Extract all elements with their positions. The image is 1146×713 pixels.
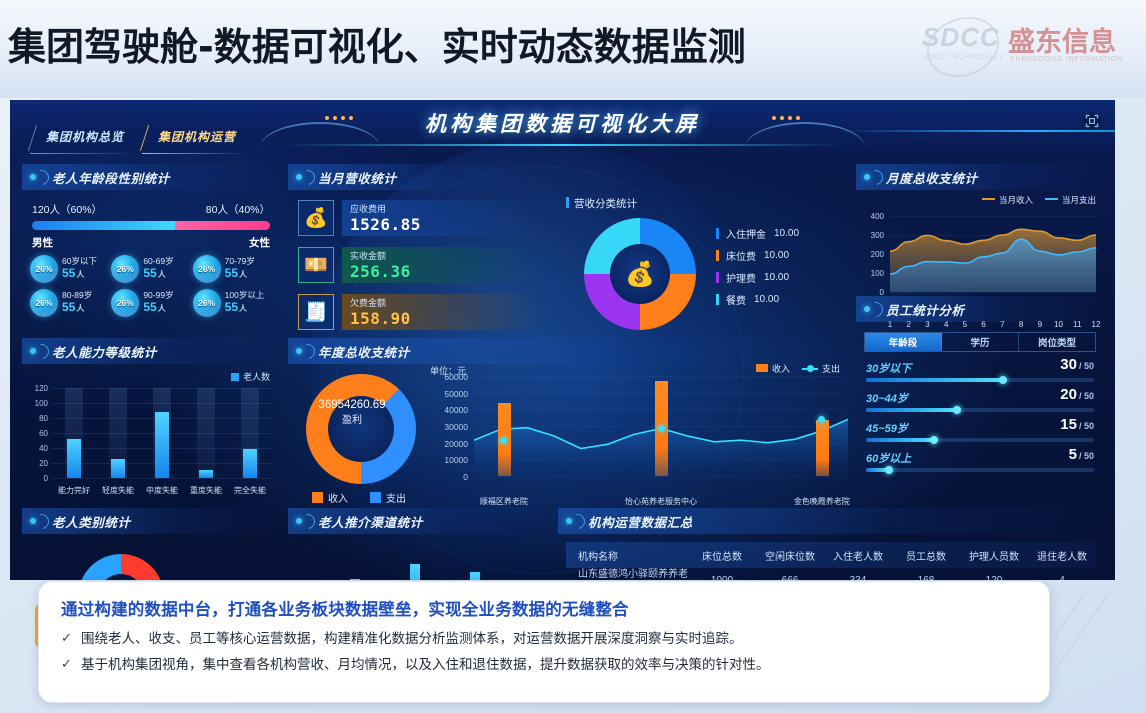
- callout-bullet: ✓基于机构集团视角，集中查看各机构营收、月均情况，以及入住和退住数据，提升数据获…: [61, 656, 1027, 674]
- age-group-value: 55人: [225, 301, 265, 315]
- bar: [67, 439, 81, 478]
- monthly-io-plot: [890, 216, 1096, 292]
- bar: [199, 470, 213, 478]
- axis-tick-label: 50000: [428, 389, 468, 399]
- panel-header: 当月营收统计: [288, 164, 550, 190]
- axis-tick-label: 0: [428, 472, 468, 482]
- grid-line: [474, 459, 844, 460]
- panel-header: 机构运营数据汇总: [558, 508, 1104, 534]
- cash-box-icon: 💴: [298, 247, 334, 283]
- axis-tick-label: 40000: [428, 405, 468, 415]
- female-count-text: 80人（40%）: [206, 202, 270, 217]
- age-group-value: 55人: [143, 267, 173, 281]
- staff-tab-group: 年龄段学历岗位类型: [864, 332, 1096, 352]
- table-cell: 666: [756, 575, 824, 581]
- panel-month-revenue: 当月营收统计 💰应收费用1526.85💴实收金额256.36🧾欠费金额158.9…: [288, 164, 550, 331]
- bar-slot: [148, 388, 176, 478]
- staff-row-value: 30/ 50: [1060, 356, 1094, 373]
- callout-bullet-text: 基于机构集团视角，集中查看各机构营收、月均情况，以及入住和退住数据，提升数据获取…: [81, 656, 770, 674]
- table-column-header: 护理人员数: [960, 548, 1028, 563]
- table-column-header: 员工总数: [892, 548, 960, 563]
- fullscreen-icon[interactable]: [1083, 112, 1101, 130]
- age-group-item: 26%100岁以上55人: [193, 289, 272, 317]
- company-logo: SDCC SDCC TECHNOLOGY 盛东信息 SHENGDONG INFO…: [922, 18, 1142, 80]
- staff-tab-0[interactable]: 年龄段: [865, 333, 942, 351]
- bar: [816, 420, 829, 476]
- age-group-grid: 26%60岁以下55人26%60-69岁55人26%70-79岁55人26%80…: [30, 255, 272, 317]
- bar: [111, 459, 125, 478]
- panel-bullet-icon: [294, 513, 310, 529]
- legend-swatch: [756, 364, 768, 372]
- staff-stat-row: 45~59岁15/ 50: [866, 419, 1094, 442]
- revenue-card-value: 158.90: [350, 309, 532, 328]
- staff-row-list: 30岁以下30/ 5030~44岁20/ 5045~59岁15/ 5060岁以上…: [856, 359, 1104, 472]
- table-cell: 168: [892, 575, 960, 581]
- axis-tick-label: 中度失能: [142, 485, 182, 496]
- staff-progress-knob[interactable]: [930, 436, 938, 444]
- ability-chart-legend: 老人数: [231, 370, 270, 383]
- bar-slot: [104, 388, 132, 478]
- panel-title-elder-category: 老人类别统计: [52, 512, 131, 531]
- logo-mark-text: SDCC: [922, 22, 1000, 53]
- table-column-header: 退住老人数: [1028, 548, 1096, 563]
- axis-tick-label: 10000: [428, 455, 468, 465]
- logo-mark-subtext: SDCC TECHNOLOGY: [924, 54, 1004, 61]
- table-column-header: 入住老人数: [824, 548, 892, 563]
- staff-row-label: 30~44岁: [866, 393, 908, 405]
- revenue-card-value: 1526.85: [350, 215, 532, 234]
- legend-label: 床位费: [726, 248, 756, 263]
- legend-item: 支出: [370, 490, 406, 505]
- callout-bullet-text: 围绕老人、收支、员工等核心运营数据，构建精准化数据分析监测体系，对运营数据开展深…: [81, 630, 743, 648]
- grid-line: [474, 409, 844, 410]
- grid-line: [474, 376, 844, 377]
- legend-swatch: [312, 492, 323, 503]
- legend-swatch: [231, 373, 239, 381]
- tab-group-overview[interactable]: 集团机构总览: [40, 128, 124, 150]
- panel-header: 老人年龄段性别统计: [22, 164, 280, 190]
- staff-row-label: 60岁以上: [866, 453, 911, 465]
- axis-tick-label: 200: [860, 250, 884, 259]
- bar-slot: [236, 388, 264, 478]
- staff-stat-row: 30~44岁20/ 50: [866, 389, 1094, 412]
- panel-header: 月度总收支统计: [856, 164, 1104, 190]
- panel-ability-levels: 老人能力等级统计 老人数 020406080100120能力完好轻度失能中度失能…: [22, 338, 280, 496]
- age-group-value: 55人: [62, 267, 97, 281]
- panel-title-age-gender: 老人年龄段性别统计: [52, 168, 170, 187]
- panel-title-referral: 老人推介渠道统计: [318, 512, 423, 531]
- summary-callout: 通过构建的数据中台，打通各业务板块数据壁垒，实现全业务数据的无缝整合 ✓围绕老人…: [38, 581, 1050, 703]
- logo-chinese-subtext: SHENGDONG INFORMATION: [1010, 56, 1123, 63]
- grid-line: [52, 478, 272, 479]
- panel-institution-table: 机构运营数据汇总 机构名称床位总数空闲床位数入住老人数员工总数护理人员数退住老人…: [558, 508, 1104, 534]
- legend-item: 护理费10.00: [716, 270, 799, 285]
- staff-row-value: 15/ 50: [1060, 416, 1094, 433]
- bar: [350, 579, 360, 580]
- legend-value: 10.00: [774, 228, 799, 239]
- staff-progress-fill: [866, 378, 1003, 382]
- axis-tick-label: 顺福区养老院: [480, 496, 528, 507]
- panel-monthly-io: 月度总收支统计 当月收入 当月支出 4003002001000123456789…: [856, 164, 1104, 190]
- legend-swatch: [716, 228, 719, 239]
- revenue-card-label: 欠费金额: [350, 296, 532, 309]
- dashboard-screenshot: 机构集团数据可视化大屏 集团机构总览 集团机构运营 老人年龄段性别统计 120人…: [10, 100, 1115, 580]
- annual-donut-legend: 收入支出: [312, 490, 406, 505]
- panel-bullet-icon: [294, 169, 310, 185]
- revenue-card: 💴实收金额256.36: [298, 246, 540, 284]
- staff-row-label: 45~59岁: [866, 423, 908, 435]
- donut-hole: [98, 574, 144, 580]
- check-icon: ✓: [61, 630, 81, 647]
- legend-label: 支出: [822, 364, 840, 374]
- staff-progress-knob[interactable]: [885, 466, 893, 474]
- axis-tick-label: 轻度失能: [98, 485, 138, 496]
- panel-header: 老人能力等级统计: [22, 338, 280, 364]
- legend-label: 餐费: [726, 292, 746, 307]
- panel-title-month-revenue: 当月营收统计: [318, 168, 397, 187]
- staff-progress-track[interactable]: [866, 408, 1094, 412]
- bar: [155, 412, 169, 478]
- axis-tick-label: 怡心苑养老服务中心: [625, 496, 697, 507]
- axis-tick-label: 金色晚霞养老院: [794, 496, 850, 507]
- age-percent-ball: 26%: [193, 255, 221, 283]
- money-bag-icon: 💰: [298, 200, 334, 236]
- revenue-card: 🧾欠费金额158.90: [298, 293, 540, 331]
- table-column-header: 床位总数: [688, 548, 756, 563]
- staff-tab-1[interactable]: 学历: [942, 333, 1019, 351]
- table-column-header: 空闲床位数: [756, 548, 824, 563]
- revenue-card-list: 💰应收费用1526.85💴实收金额256.36🧾欠费金额158.90: [288, 199, 550, 331]
- legend-label: 入住押金: [726, 226, 766, 241]
- ability-bar-chart: 020406080100120能力完好轻度失能中度失能重度失能完全失能: [28, 388, 274, 496]
- age-group-value: 55人: [62, 301, 92, 315]
- axis-tick-label: 重度失能: [186, 485, 226, 496]
- annual-profit-value: 36954260.69: [276, 398, 428, 414]
- panel-title-staff: 员工统计分析: [886, 300, 965, 319]
- monthly-io-legend: 当月收入 当月支出: [982, 194, 1096, 206]
- bar-slot: [60, 388, 88, 478]
- gender-bar-female: [175, 221, 270, 230]
- panel-header: 年度总收支统计: [288, 338, 848, 364]
- age-group-value: 55人: [225, 267, 255, 281]
- legend-item: 入住押金10.00: [716, 226, 799, 241]
- legend-swatch: [370, 492, 381, 503]
- elder-category-donut-chart: [78, 554, 164, 580]
- annual-institution-chart: 单位：元 收入支出 顺福区养老院怡心苑养老服务中心金色晚霞养老院 6000050…: [428, 366, 844, 498]
- panel-bullet-icon: [862, 301, 878, 317]
- male-count-text: 120人（60%）: [32, 202, 102, 217]
- legend-item: 床位费10.00: [716, 248, 799, 263]
- staff-row-value: 5/ 50: [1069, 446, 1094, 463]
- axis-tick-label: 40: [28, 444, 48, 453]
- axis-tick-label: 100: [860, 269, 884, 278]
- legend-item: 收入: [312, 490, 348, 505]
- ability-plot-area: [52, 388, 272, 478]
- female-label: 女性: [249, 235, 270, 250]
- legend-value: 10.00: [754, 294, 779, 305]
- age-group-item: 26%70-79岁55人: [193, 255, 272, 283]
- panel-header: 老人推介渠道统计: [288, 508, 550, 534]
- legend-value: 10.00: [764, 272, 789, 283]
- legend-month-expense: 当月支出: [1045, 194, 1096, 206]
- arrears-icon: 🧾: [298, 294, 334, 330]
- annual-profit-label: 盈利: [276, 414, 428, 428]
- axis-tick-label: 能力完好: [54, 485, 94, 496]
- panel-header: 老人类别统计: [22, 508, 280, 534]
- axis-tick-label: 60000: [428, 372, 468, 382]
- axis-tick-label: 80: [28, 414, 48, 423]
- revenue-card-label: 实收金额: [350, 249, 532, 262]
- panel-title-institution-table: 机构运营数据汇总: [588, 512, 693, 531]
- bar-background: [197, 388, 215, 478]
- staff-progress-fill: [866, 408, 957, 412]
- table-cell: 山东盛德鸿小驿颐养养老院: [566, 565, 688, 580]
- legend-swatch: [716, 294, 719, 305]
- staff-progress-knob[interactable]: [953, 406, 961, 414]
- corner-decoration: [1050, 593, 1146, 713]
- age-percent-ball: 26%: [30, 289, 58, 317]
- table-body: 山东盛德鸿小驿颐养养老院10006663341681204: [566, 568, 1096, 580]
- axis-tick-label: 100: [28, 399, 48, 408]
- axis-tick-label: 30000: [428, 422, 468, 432]
- callout-accent-bar: [35, 604, 47, 648]
- revenue-card: 💰应收费用1526.85: [298, 199, 540, 237]
- page-header: 集团驾驶舱-数据可视化、实时动态数据监测 SDCC SDCC TECHNOLOG…: [0, 0, 1146, 98]
- legend-label-elder-count: 老人数: [243, 370, 270, 383]
- axis-tick-label: 20: [28, 459, 48, 468]
- axis-tick-label: 60: [28, 429, 48, 438]
- table-cell: 1000: [688, 575, 756, 581]
- institution-data-table: 机构名称床位总数空闲床位数入住老人数员工总数护理人员数退住老人数 山东盛德鸿小驿…: [566, 542, 1096, 580]
- table-column-header: 机构名称: [566, 548, 688, 563]
- annual-center-text: 36954260.69 盈利: [276, 398, 428, 427]
- legend-swatch: [802, 368, 818, 370]
- panel-revenue-category: 营收分类统计 💰 入住押金10.00床位费10.00护理费10.00餐费10.0…: [566, 196, 856, 346]
- table-cell: 334: [824, 575, 892, 581]
- gender-bar-male: [32, 221, 175, 230]
- panel-title-ability: 老人能力等级统计: [52, 342, 157, 361]
- gender-ratio-bar: [32, 221, 270, 230]
- table-cell: 4: [1028, 575, 1096, 581]
- gender-counts: 120人（60%） 80人（40%）: [32, 202, 270, 218]
- panel-bullet-icon: [294, 343, 310, 359]
- grid-line: [474, 426, 844, 427]
- age-percent-ball: 26%: [111, 255, 139, 283]
- check-icon: ✓: [61, 656, 81, 673]
- revenue-card-value: 256.36: [350, 262, 532, 281]
- panel-staff-analysis: 员工统计分析 年龄段学历岗位类型 30岁以下30/ 5030~44岁20/ 50…: [856, 296, 1104, 472]
- staff-stat-row: 60岁以上5/ 50: [866, 449, 1094, 472]
- panel-age-gender: 老人年龄段性别统计 120人（60%） 80人（40%） 男性 女性 26%60…: [22, 164, 280, 317]
- callout-bullet: ✓围绕老人、收支、员工等核心运营数据，构建精准化数据分析监测体系，对运营数据开展…: [61, 630, 1027, 648]
- panel-elder-category: 老人类别统计: [22, 508, 280, 534]
- staff-progress-track[interactable]: [866, 438, 1094, 442]
- legend-label: 支出: [386, 494, 406, 505]
- legend-item: 餐费10.00: [716, 292, 799, 307]
- axis-tick-label: 20000: [428, 439, 468, 449]
- gender-labels: 男性 女性: [32, 235, 270, 249]
- age-percent-ball: 26%: [111, 289, 139, 317]
- bar-slot: [192, 388, 220, 478]
- legend-swatch: [716, 272, 719, 283]
- panel-bullet-icon: [28, 513, 44, 529]
- bar: [243, 449, 257, 478]
- revenue-category-legend: 入住押金10.00床位费10.00护理费10.00餐费10.00: [716, 226, 799, 314]
- legend-item: 支出: [802, 362, 840, 375]
- panel-bullet-icon: [564, 513, 580, 529]
- yen-bag-icon: 💰: [610, 244, 670, 304]
- page-title: 集团驾驶舱-数据可视化、实时动态数据监测: [8, 16, 746, 71]
- ability-xaxis: 能力完好轻度失能中度失能重度失能完全失能: [52, 485, 272, 496]
- panel-title-annual: 年度总收支统计: [318, 342, 410, 361]
- staff-row-label: 30岁以下: [866, 363, 911, 375]
- panel-header: 员工统计分析: [856, 296, 1104, 322]
- staff-progress-track[interactable]: [866, 378, 1094, 382]
- staff-progress-track[interactable]: [866, 468, 1094, 472]
- revenue-category-title: 营收分类统计: [566, 196, 856, 211]
- axis-tick-label: 完全失能: [230, 485, 270, 496]
- legend-item: 收入: [756, 362, 790, 375]
- callout-bullet-list: ✓围绕老人、收支、员工等核心运营数据，构建精准化数据分析监测体系，对运营数据开展…: [61, 630, 1027, 674]
- panel-bullet-icon: [28, 343, 44, 359]
- revenue-card-label: 应收费用: [350, 202, 532, 215]
- grid-line: [474, 476, 844, 477]
- grid-line: [890, 292, 1096, 293]
- table-row: 山东盛德鸿小驿颐养养老院10006663341681204: [566, 568, 1096, 580]
- legend-label: 护理费: [726, 270, 756, 285]
- bar: [470, 572, 480, 580]
- grid-line: [474, 443, 844, 444]
- age-percent-ball: 26%: [30, 255, 58, 283]
- panel-title-monthly-io: 月度总收支统计: [886, 168, 978, 187]
- panel-referral-channel: 老人推介渠道统计: [288, 508, 550, 534]
- annual-chart-legend: 收入支出: [756, 362, 840, 375]
- panel-bullet-icon: [28, 169, 44, 185]
- grid-line: [474, 393, 844, 394]
- legend-swatch: [716, 250, 719, 261]
- annual-donut-chart: [306, 374, 416, 484]
- legend-label: 收入: [328, 494, 348, 505]
- age-percent-ball: 26%: [193, 289, 221, 317]
- axis-tick-label: 300: [860, 231, 884, 240]
- axis-tick-label: 120: [28, 384, 48, 393]
- age-group-item: 26%60岁以下55人: [30, 255, 109, 283]
- staff-progress-knob[interactable]: [999, 376, 1007, 384]
- axis-tick-label: 0: [28, 474, 48, 483]
- axis-tick-label: 400: [860, 212, 884, 221]
- logo-chinese-text: 盛东信息: [1008, 20, 1116, 59]
- legend-label: 收入: [772, 364, 790, 374]
- callout-title: 通过构建的数据中台，打通各业务板块数据壁垒，实现全业务数据的无缝整合: [61, 596, 1027, 620]
- panel-bullet-icon: [862, 169, 878, 185]
- panel-annual-revenue: 年度总收支统计 36954260.69 盈利 收入支出 单位：元 收入支出 顺福…: [288, 338, 848, 364]
- age-group-item: 26%60-69岁55人: [111, 255, 190, 283]
- staff-stat-row: 30岁以下30/ 50: [866, 359, 1094, 382]
- referral-bar-chart: [308, 554, 528, 580]
- legend-month-income: 当月收入: [982, 194, 1033, 206]
- legend-value: 10.00: [764, 250, 789, 261]
- staff-row-value: 20/ 50: [1060, 386, 1094, 403]
- dashboard-topbar: 机构集团数据可视化大屏 集团机构总览 集团机构运营: [10, 100, 1115, 152]
- male-label: 男性: [32, 235, 53, 250]
- bar: [410, 564, 420, 580]
- age-group-value: 55人: [143, 301, 173, 315]
- table-cell: 120: [960, 575, 1028, 581]
- tab-group-operations[interactable]: 集团机构运营: [152, 128, 236, 150]
- staff-tab-2[interactable]: 岗位类型: [1019, 333, 1095, 351]
- staff-progress-fill: [866, 438, 934, 442]
- revenue-category-donut-chart: 💰: [584, 218, 696, 330]
- age-group-item: 26%80-89岁55人: [30, 289, 109, 317]
- age-group-item: 26%90-99岁55人: [111, 289, 190, 317]
